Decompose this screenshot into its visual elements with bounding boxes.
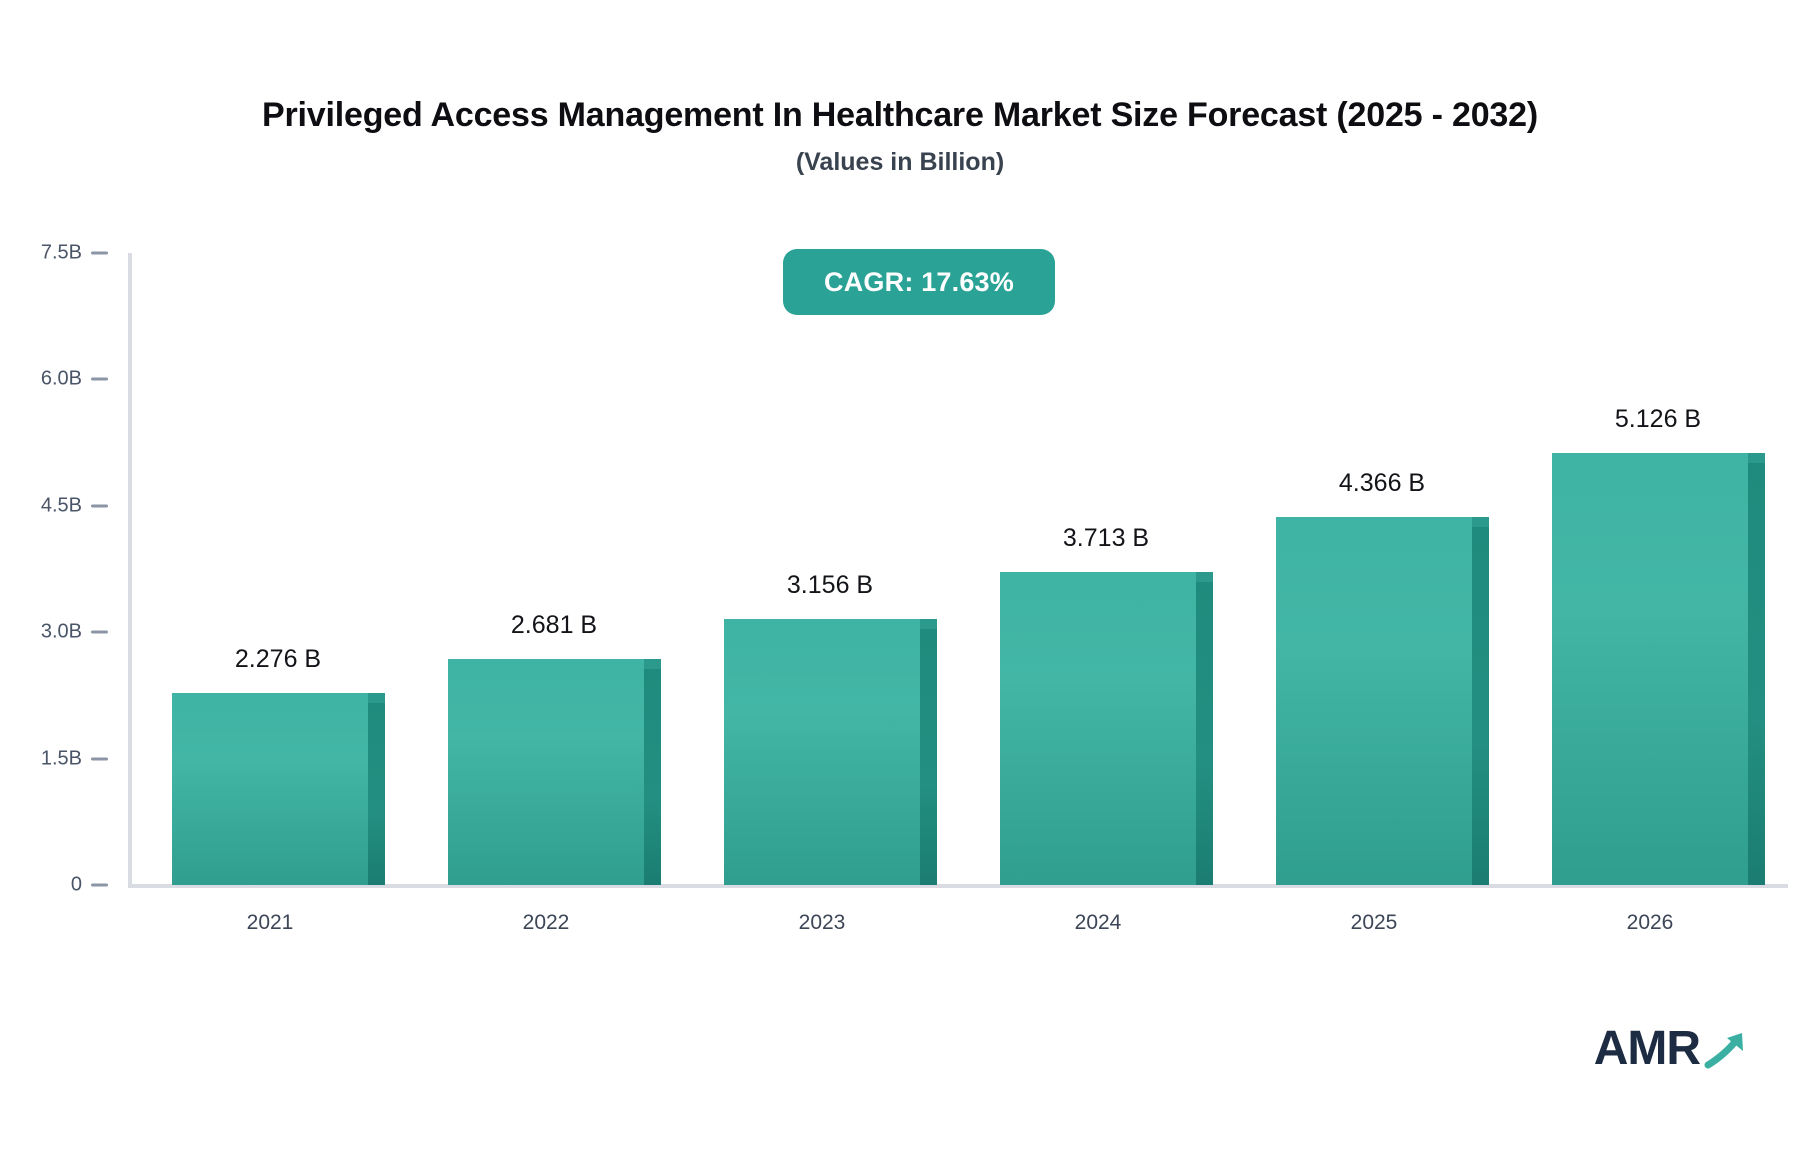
- y-axis-tick-label: 3.0B: [0, 621, 82, 644]
- y-axis-tick-label: 7.5B: [0, 242, 82, 265]
- bar-value-label: 3.156 B: [700, 571, 960, 600]
- bar-value-label: 2.276 B: [148, 645, 408, 674]
- chart-page: Privileged Access Management In Healthca…: [0, 0, 1800, 1156]
- y-axis-tick-mark: [91, 631, 108, 634]
- bar-top-face: [920, 619, 937, 629]
- bar-front-face: [724, 619, 920, 885]
- y-axis-tick-mark: [91, 884, 108, 887]
- x-axis-tick-label: 2024: [968, 911, 1228, 935]
- bar-value-label: 3.713 B: [976, 524, 1236, 553]
- bar[interactable]: [724, 619, 920, 885]
- bar-top-face: [368, 693, 385, 703]
- bar-side-face: [368, 703, 385, 885]
- bar-top-face: [1472, 517, 1489, 527]
- bar-value-label: 2.681 B: [424, 611, 684, 640]
- bar-side-face: [920, 629, 937, 885]
- bar-top-face: [644, 659, 661, 669]
- bar-top-face: [1196, 572, 1213, 582]
- y-axis-tick-label: 0: [0, 874, 82, 897]
- bar-front-face: [448, 659, 644, 885]
- bar-front-face: [1552, 453, 1748, 885]
- y-axis-tick-mark: [91, 757, 108, 760]
- y-axis-tick-label: 4.5B: [0, 494, 82, 517]
- arrow-up-right-icon: [1702, 1029, 1748, 1076]
- bar-side-face: [644, 669, 661, 885]
- bar-side-face: [1196, 582, 1213, 885]
- x-axis-tick-label: 2022: [416, 911, 676, 935]
- bar-front-face: [1276, 517, 1472, 885]
- bar-side-face: [1472, 527, 1489, 885]
- bar-top-face: [1748, 453, 1765, 463]
- x-axis-tick-label: 2021: [140, 911, 400, 935]
- bar[interactable]: [1000, 572, 1196, 885]
- bar-value-label: 4.366 B: [1252, 469, 1512, 498]
- bar[interactable]: [448, 659, 644, 885]
- y-axis-tick-label: 6.0B: [0, 368, 82, 391]
- bar-front-face: [1000, 572, 1196, 885]
- y-axis-tick-label: 1.5B: [0, 747, 82, 770]
- y-axis-tick-mark: [91, 252, 108, 255]
- x-axis-tick-label: 2026: [1520, 911, 1780, 935]
- bar[interactable]: [172, 693, 368, 885]
- y-axis-tick-mark: [91, 504, 108, 507]
- amr-logo-text: AMR: [1594, 1025, 1700, 1073]
- bar[interactable]: [1552, 453, 1748, 885]
- amr-logo: AMR: [1594, 1025, 1748, 1076]
- x-axis-tick-label: 2023: [692, 911, 952, 935]
- bar-front-face: [172, 693, 368, 885]
- bar[interactable]: [1276, 517, 1472, 885]
- x-axis-tick-label: 2025: [1244, 911, 1504, 935]
- y-axis-line: [128, 253, 132, 887]
- bar-value-label: 5.126 B: [1528, 405, 1788, 434]
- chart-plot-area: 01.5B3.0B4.5B6.0B7.5B 2.276 B2.681 B3.15…: [0, 0, 1800, 1156]
- bar-side-face: [1748, 463, 1765, 885]
- y-axis-tick-mark: [91, 378, 108, 381]
